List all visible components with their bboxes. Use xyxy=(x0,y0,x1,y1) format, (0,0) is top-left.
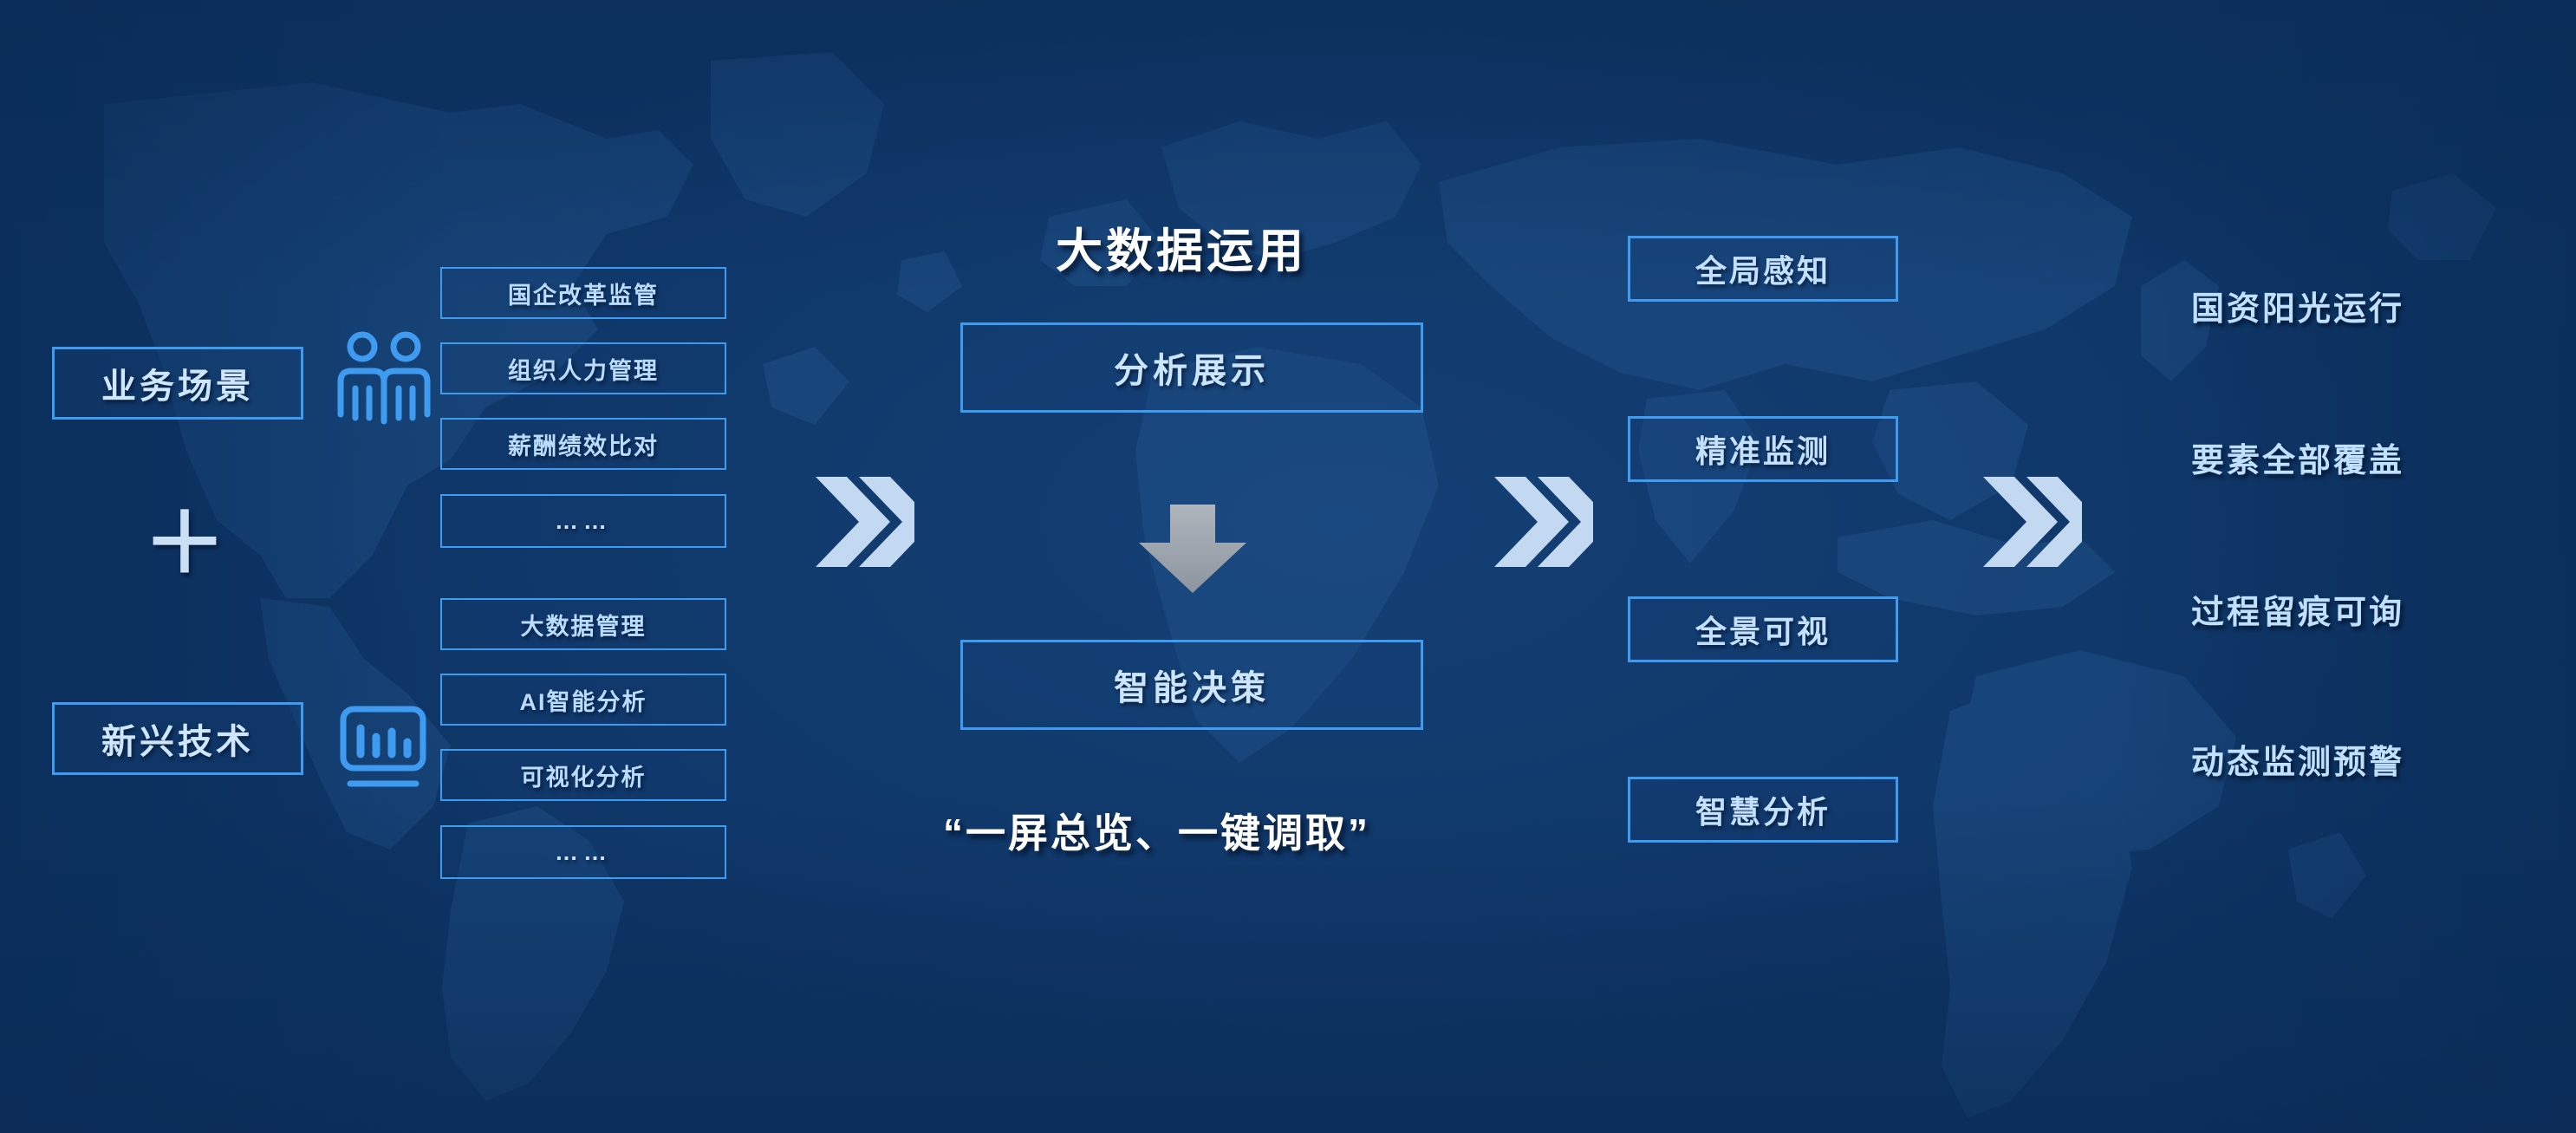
outcome-text-1: 要素全部覆盖 xyxy=(2191,433,2404,481)
technology-item-1-label: AI智能分析 xyxy=(520,683,647,717)
plus-symbol: ＋ xyxy=(143,503,226,586)
outcome-text-2: 过程留痕可询 xyxy=(2191,585,2404,633)
platform-box-intelligent-decision-label: 智能决策 xyxy=(1114,660,1270,710)
category-box-business-scenario[interactable]: 业务场景 xyxy=(52,347,303,420)
technology-item-1[interactable]: AI智能分析 xyxy=(440,674,726,726)
platform-box-analysis-display-label: 分析展示 xyxy=(1114,342,1270,393)
category-box-business-scenario-label: 业务场景 xyxy=(101,358,254,408)
people-icon xyxy=(336,328,432,427)
technology-item-3-label: …… xyxy=(555,839,612,866)
capability-box-3[interactable]: 智慧分析 xyxy=(1628,777,1898,843)
arrow-down-icon xyxy=(1132,501,1253,598)
scenario-item-2[interactable]: 薪酬绩效比对 xyxy=(440,418,726,470)
technology-item-2-label: 可视化分析 xyxy=(521,759,647,792)
scenario-item-0[interactable]: 国企改革监管 xyxy=(440,267,726,319)
technology-item-0-label: 大数据管理 xyxy=(521,608,647,641)
capability-box-1[interactable]: 精准监测 xyxy=(1628,416,1898,482)
capability-box-0-label: 全局感知 xyxy=(1695,246,1831,291)
scenario-item-2-label: 薪酬绩效比对 xyxy=(508,427,659,461)
capability-box-1-label: 精准监测 xyxy=(1695,427,1831,472)
outcome-text-0: 国资阳光运行 xyxy=(2191,282,2404,329)
page-title: 大数据运用 xyxy=(1056,212,1307,281)
technology-item-0[interactable]: 大数据管理 xyxy=(440,598,726,650)
platform-box-analysis-display[interactable]: 分析展示 xyxy=(960,322,1423,413)
scenario-item-3-label: …… xyxy=(555,508,612,535)
capability-box-3-label: 智慧分析 xyxy=(1695,787,1831,832)
monitor-chart-icon xyxy=(338,704,428,791)
outcome-text-3: 动态监测预警 xyxy=(2191,735,2404,783)
chevron-double-right-icon-1 xyxy=(810,470,914,574)
category-box-emerging-technology[interactable]: 新兴技术 xyxy=(52,702,303,775)
scenario-item-1[interactable]: 组织人力管理 xyxy=(440,342,726,394)
technology-item-2[interactable]: 可视化分析 xyxy=(440,749,726,801)
chevron-double-right-icon-3 xyxy=(1978,470,2082,574)
platform-slogan: “一屏总览、一键调取” xyxy=(943,802,1370,859)
technology-item-3-ellipsis[interactable]: …… xyxy=(440,825,726,879)
capability-box-0[interactable]: 全局感知 xyxy=(1628,236,1898,302)
capability-box-2-label: 全景可视 xyxy=(1695,607,1831,652)
capability-box-2[interactable]: 全景可视 xyxy=(1628,596,1898,662)
scenario-item-0-label: 国企改革监管 xyxy=(508,277,659,310)
platform-box-intelligent-decision[interactable]: 智能决策 xyxy=(960,640,1423,730)
category-box-emerging-technology-label: 新兴技术 xyxy=(101,713,254,764)
scenario-item-1-label: 组织人力管理 xyxy=(508,352,659,386)
chevron-double-right-icon-2 xyxy=(1489,470,1593,574)
scenario-item-3-ellipsis[interactable]: …… xyxy=(440,494,726,548)
